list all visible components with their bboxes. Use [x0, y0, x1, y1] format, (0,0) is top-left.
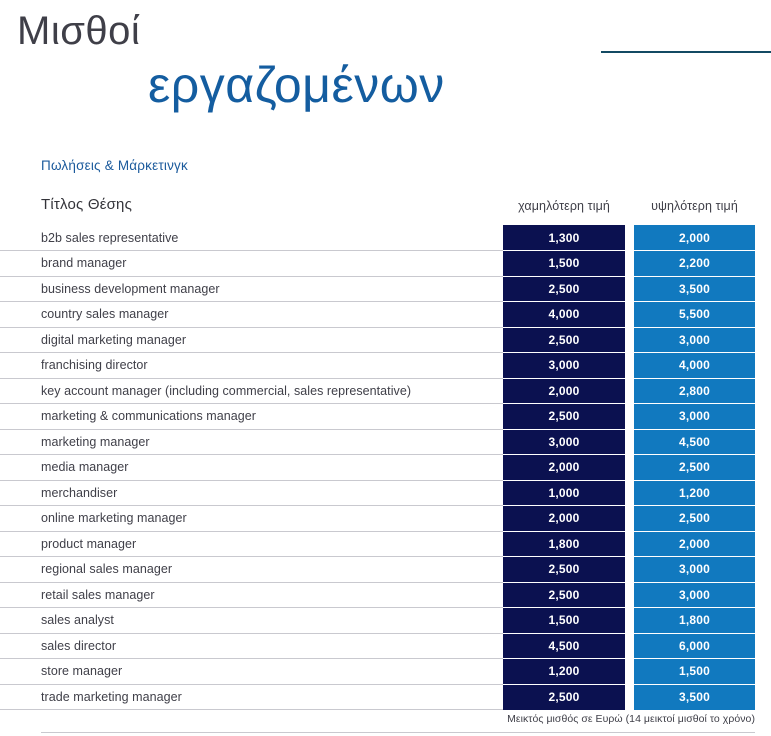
- cell-job-title: key account manager (including commercia…: [0, 378, 503, 404]
- cell-spacer-2: [625, 557, 634, 583]
- cell-job-title: franchising director: [0, 353, 503, 379]
- cell-highest-value: 2,500: [634, 455, 755, 481]
- table-body: b2b sales representative1,3002,000brand …: [0, 225, 771, 710]
- cell-spacer-2: [625, 659, 634, 685]
- cell-spacer-2: [625, 480, 634, 506]
- cell-spacer-3: [755, 557, 771, 583]
- cell-job-title: sales director: [0, 633, 503, 659]
- cell-spacer-3: [755, 659, 771, 685]
- table-row: country sales manager4,0005,500: [0, 302, 771, 328]
- table-row: b2b sales representative1,3002,000: [0, 225, 771, 251]
- salary-table: Τίτλος Θέσης χαμηλότερη τιμή υψηλότερη τ…: [0, 196, 771, 710]
- table-row: business development manager2,5003,500: [0, 276, 771, 302]
- salary-table-container: Τίτλος Θέσης χαμηλότερη τιμή υψηλότερη τ…: [0, 196, 771, 710]
- cell-highest-value: 1,800: [634, 608, 755, 634]
- cell-job-title: sales analyst: [0, 608, 503, 634]
- cell-spacer-2: [625, 429, 634, 455]
- cell-highest-value: 4,500: [634, 429, 755, 455]
- cell-spacer-3: [755, 327, 771, 353]
- cell-lowest-value: 2,000: [503, 506, 625, 532]
- cell-spacer-3: [755, 353, 771, 379]
- table-row: product manager1,8002,000: [0, 531, 771, 557]
- cell-spacer-3: [755, 404, 771, 430]
- page-title-secondary: εργαζομένων: [148, 58, 445, 113]
- footer-note: Μεικτός μισθός σε Ευρώ (14 μεικτοί μισθο…: [0, 713, 771, 725]
- table-row: marketing manager3,0004,500: [0, 429, 771, 455]
- cell-spacer-3: [755, 455, 771, 481]
- cell-lowest-value: 3,000: [503, 353, 625, 379]
- cell-lowest-value: 2,500: [503, 276, 625, 302]
- cell-spacer-2: [625, 455, 634, 481]
- section-label: Πωλήσεις & Μάρκετινγκ: [41, 158, 188, 173]
- cell-spacer-2: [625, 531, 634, 557]
- cell-highest-value: 3,000: [634, 327, 755, 353]
- table-head: Τίτλος Θέσης χαμηλότερη τιμή υψηλότερη τ…: [0, 196, 771, 225]
- cell-lowest-value: 2,500: [503, 582, 625, 608]
- cell-spacer-3: [755, 378, 771, 404]
- table-row: store manager1,2001,500: [0, 659, 771, 685]
- column-header-lowest-value: χαμηλότερη τιμή: [503, 196, 625, 225]
- cell-job-title: business development manager: [0, 276, 503, 302]
- cell-highest-value: 3,000: [634, 582, 755, 608]
- cell-spacer-2: [625, 684, 634, 710]
- cell-spacer-2: [625, 506, 634, 532]
- cell-spacer-2: [625, 353, 634, 379]
- cell-lowest-value: 1,800: [503, 531, 625, 557]
- cell-spacer-2: [625, 276, 634, 302]
- cell-lowest-value: 1,500: [503, 251, 625, 277]
- cell-spacer-3: [755, 480, 771, 506]
- cell-lowest-value: 2,000: [503, 378, 625, 404]
- cell-lowest-value: 4,500: [503, 633, 625, 659]
- column-header-highest-value: υψηλότερη τιμή: [634, 196, 755, 225]
- cell-spacer-2: [625, 225, 634, 251]
- cell-lowest-value: 4,000: [503, 302, 625, 328]
- cell-spacer-2: [625, 404, 634, 430]
- cell-highest-value: 3,500: [634, 684, 755, 710]
- cell-spacer-2: [625, 582, 634, 608]
- cell-highest-value: 5,500: [634, 302, 755, 328]
- header-rule: [601, 51, 771, 53]
- cell-highest-value: 4,000: [634, 353, 755, 379]
- cell-spacer-3: [755, 582, 771, 608]
- table-row: brand manager1,5002,200: [0, 251, 771, 277]
- table-row: media manager2,0002,500: [0, 455, 771, 481]
- cell-highest-value: 3,000: [634, 557, 755, 583]
- cell-spacer-2: [625, 251, 634, 277]
- cell-lowest-value: 2,500: [503, 557, 625, 583]
- table-row: merchandiser1,0001,200: [0, 480, 771, 506]
- table-row: franchising director3,0004,000: [0, 353, 771, 379]
- cell-job-title: trade marketing manager: [0, 684, 503, 710]
- cell-lowest-value: 1,000: [503, 480, 625, 506]
- cell-job-title: b2b sales representative: [0, 225, 503, 251]
- cell-job-title: merchandiser: [0, 480, 503, 506]
- cell-spacer-3: [755, 684, 771, 710]
- cell-spacer-3: [755, 429, 771, 455]
- table-row: key account manager (including commercia…: [0, 378, 771, 404]
- cell-lowest-value: 1,500: [503, 608, 625, 634]
- table-row: marketing & communications manager2,5003…: [0, 404, 771, 430]
- table-row: online marketing manager2,0002,500: [0, 506, 771, 532]
- table-header-row: Τίτλος Θέσης χαμηλότερη τιμή υψηλότερη τ…: [0, 196, 771, 225]
- cell-lowest-value: 2,500: [503, 684, 625, 710]
- cell-lowest-value: 1,200: [503, 659, 625, 685]
- cell-lowest-value: 2,000: [503, 455, 625, 481]
- page-title-primary: Μισθοί: [17, 8, 140, 54]
- cell-highest-value: 2,000: [634, 531, 755, 557]
- cell-spacer-2: [625, 327, 634, 353]
- cell-lowest-value: 1,300: [503, 225, 625, 251]
- cell-lowest-value: 2,500: [503, 327, 625, 353]
- cell-highest-value: 1,200: [634, 480, 755, 506]
- cell-job-title: regional sales manager: [0, 557, 503, 583]
- cell-highest-value: 3,000: [634, 404, 755, 430]
- cell-spacer-3: [755, 608, 771, 634]
- cell-spacer-3: [755, 506, 771, 532]
- column-spacer-2: [625, 196, 634, 225]
- column-header-job-title: Τίτλος Θέσης: [0, 196, 503, 225]
- table-row: sales director4,5006,000: [0, 633, 771, 659]
- cell-highest-value: 3,500: [634, 276, 755, 302]
- cell-job-title: marketing & communications manager: [0, 404, 503, 430]
- cell-highest-value: 2,800: [634, 378, 755, 404]
- table-row: regional sales manager2,5003,000: [0, 557, 771, 583]
- cell-spacer-3: [755, 225, 771, 251]
- cell-spacer-3: [755, 302, 771, 328]
- page-header: Μισθοί εργαζομένων: [0, 0, 771, 140]
- cell-job-title: country sales manager: [0, 302, 503, 328]
- cell-job-title: store manager: [0, 659, 503, 685]
- cell-job-title: retail sales manager: [0, 582, 503, 608]
- cell-spacer-3: [755, 251, 771, 277]
- cell-highest-value: 2,000: [634, 225, 755, 251]
- cell-lowest-value: 3,000: [503, 429, 625, 455]
- cell-job-title: online marketing manager: [0, 506, 503, 532]
- cell-highest-value: 1,500: [634, 659, 755, 685]
- cell-job-title: brand manager: [0, 251, 503, 277]
- table-row: retail sales manager2,5003,000: [0, 582, 771, 608]
- table-row: sales analyst1,5001,800: [0, 608, 771, 634]
- cell-highest-value: 6,000: [634, 633, 755, 659]
- footer-rule: [41, 732, 755, 733]
- table-row: trade marketing manager2,5003,500: [0, 684, 771, 710]
- column-spacer-3: [755, 196, 771, 225]
- table-row: digital marketing manager2,5003,000: [0, 327, 771, 353]
- cell-spacer-2: [625, 378, 634, 404]
- cell-spacer-3: [755, 276, 771, 302]
- cell-job-title: product manager: [0, 531, 503, 557]
- cell-spacer-2: [625, 302, 634, 328]
- cell-job-title: digital marketing manager: [0, 327, 503, 353]
- cell-spacer-2: [625, 633, 634, 659]
- cell-highest-value: 2,500: [634, 506, 755, 532]
- cell-job-title: media manager: [0, 455, 503, 481]
- cell-spacer-2: [625, 608, 634, 634]
- cell-spacer-3: [755, 531, 771, 557]
- cell-lowest-value: 2,500: [503, 404, 625, 430]
- cell-job-title: marketing manager: [0, 429, 503, 455]
- cell-highest-value: 2,200: [634, 251, 755, 277]
- cell-spacer-3: [755, 633, 771, 659]
